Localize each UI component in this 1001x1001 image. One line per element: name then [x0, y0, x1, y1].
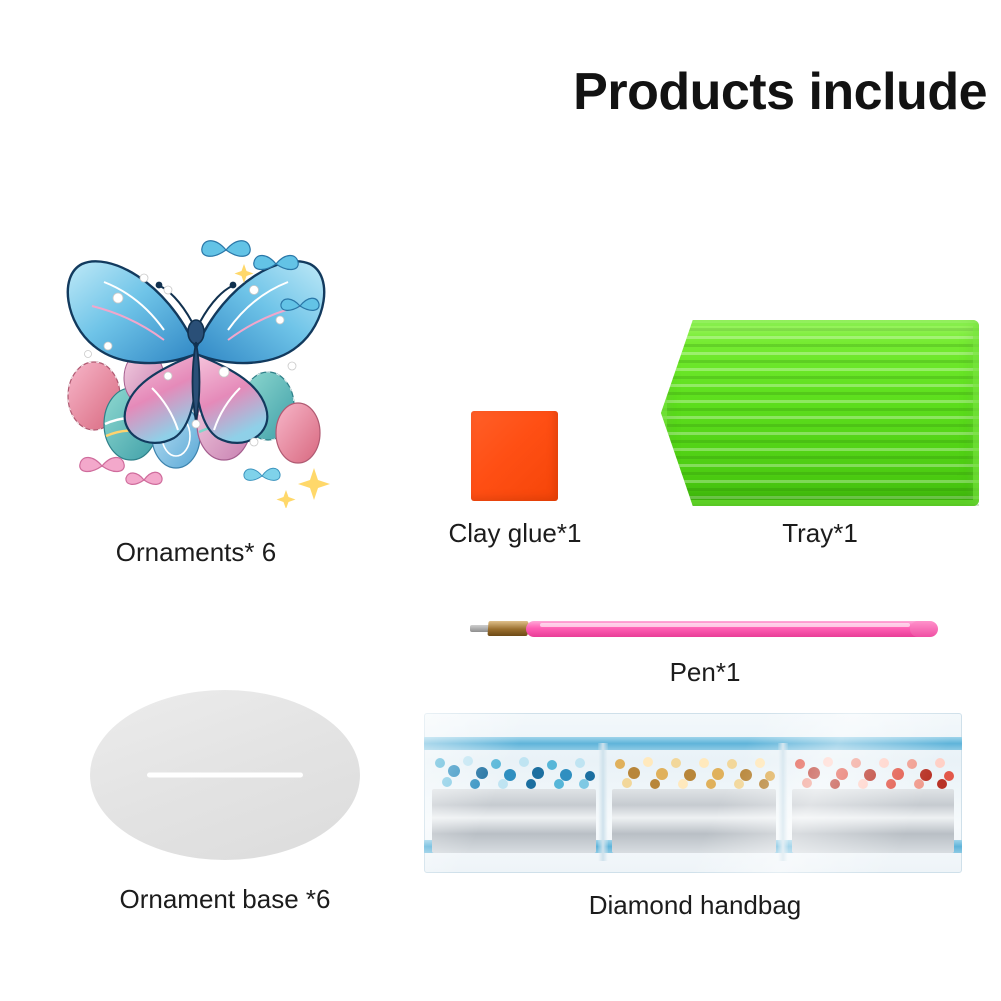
blue-foil-pouch [432, 789, 596, 853]
caption-tray: Tray*1 [705, 518, 935, 549]
pen-highlight [540, 623, 910, 627]
clay-glue-image [471, 411, 558, 501]
caption-clay-glue: Clay glue*1 [415, 518, 615, 549]
caption-pen: Pen*1 [580, 657, 830, 688]
handbag-top-seam [424, 737, 962, 750]
red-rhinestones [792, 751, 954, 791]
ornaments-image [48, 228, 344, 508]
pen-end-cap [910, 621, 938, 637]
handbag-divider-2 [778, 743, 788, 861]
caption-ornament-base: Ornament base *6 [80, 884, 370, 915]
pen-image [470, 612, 942, 646]
butterfly-ornament-illustration [48, 228, 344, 508]
gold-rhinestones [612, 751, 776, 791]
page-title: Products include [573, 62, 987, 122]
ornament-base-image [90, 690, 360, 860]
diamond-handbag-image [424, 713, 962, 873]
handbag-cell-red [792, 751, 954, 853]
caption-ornaments: Ornaments* 6 [48, 537, 344, 568]
tray-image [661, 320, 979, 506]
gold-foil-pouch [612, 789, 776, 853]
pen-ferrule [487, 621, 528, 636]
handbag-cell-blue [432, 751, 596, 853]
red-foil-pouch [792, 789, 954, 853]
tray-rim [661, 320, 979, 506]
ornament-base-slot [147, 773, 303, 778]
handbag-cell-gold [612, 751, 776, 853]
blue-rhinestones [432, 751, 596, 791]
handbag-divider-1 [598, 743, 608, 861]
caption-diamond-handbag: Diamond handbag [500, 890, 890, 921]
